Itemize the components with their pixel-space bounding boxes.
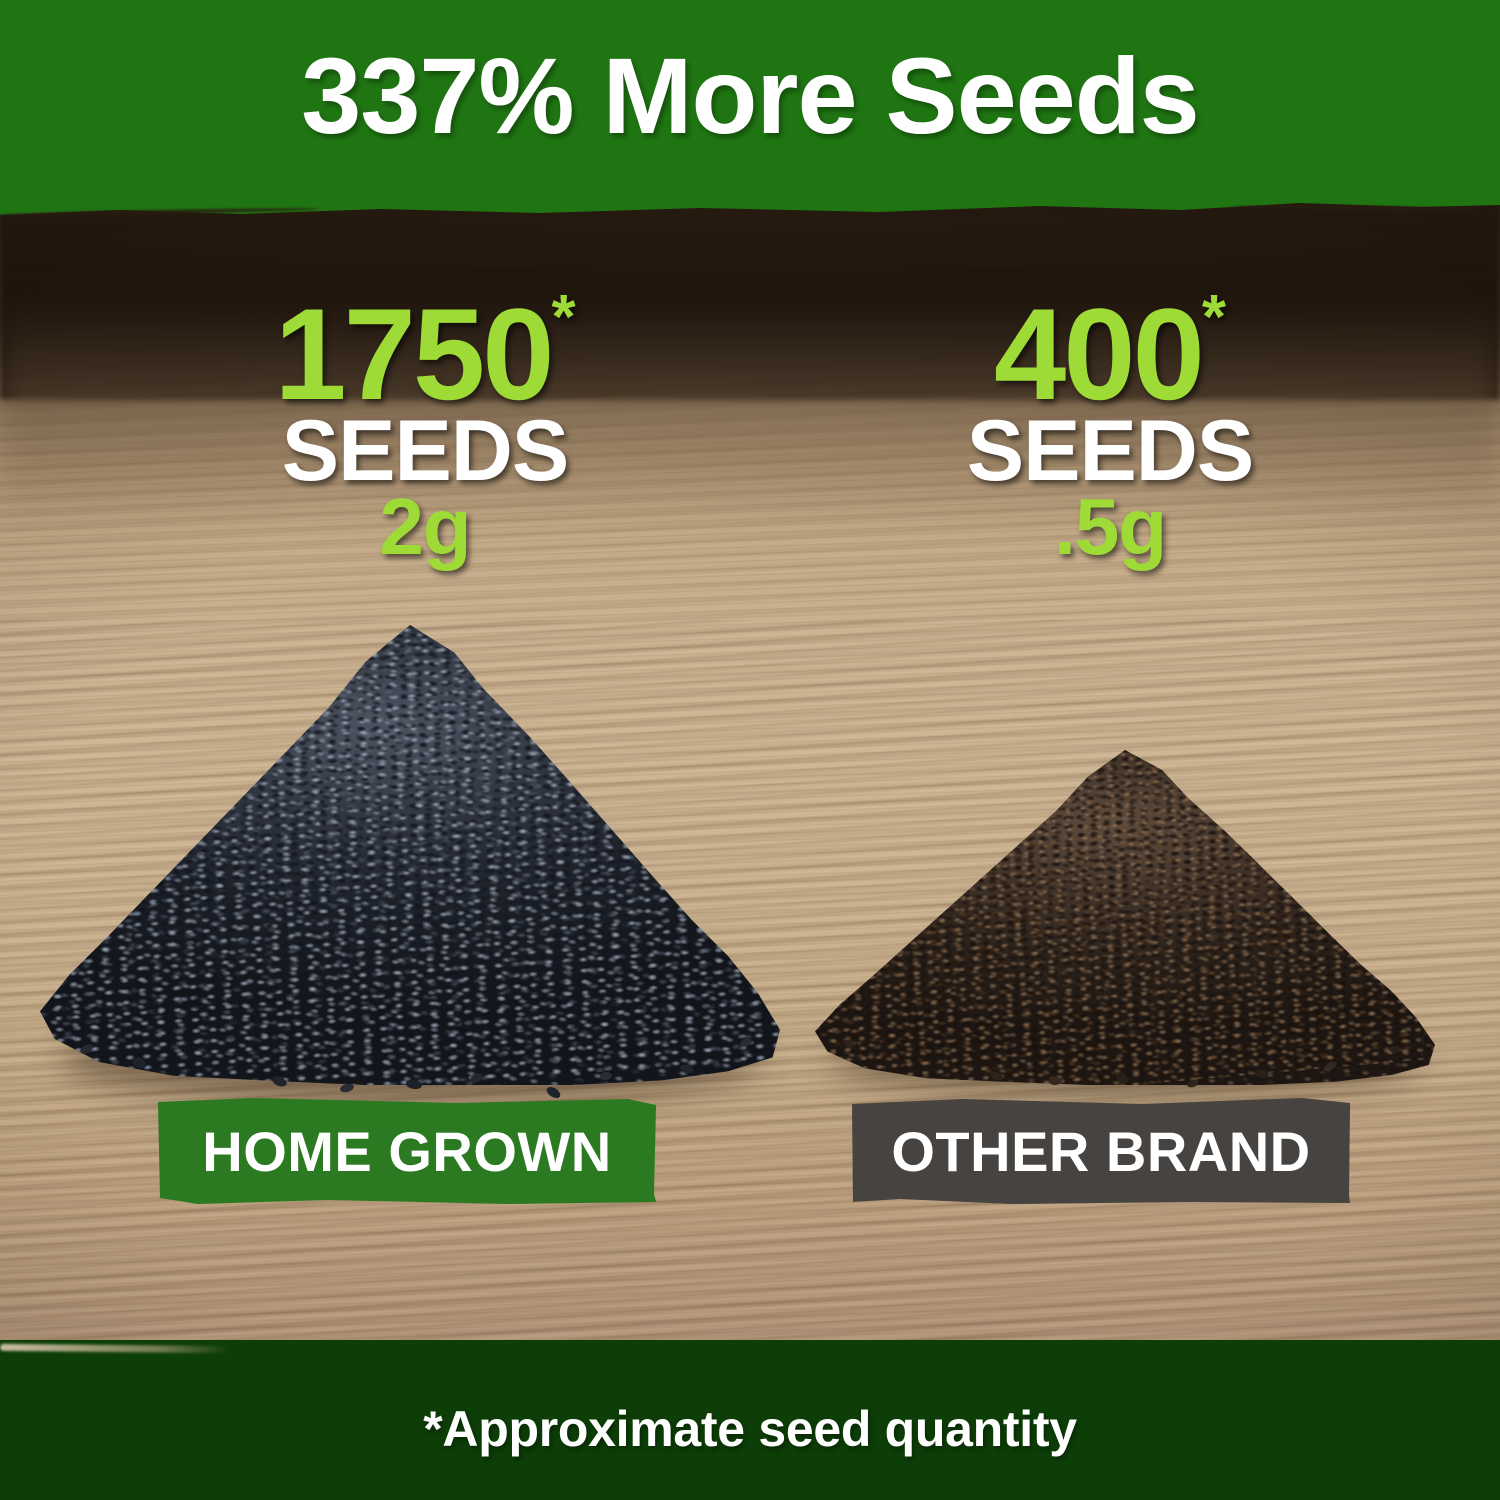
seed-weight-other: .5g (850, 488, 1370, 566)
badge-home-grown: HOME GROWN (158, 1098, 656, 1204)
seed-count-value-home: 1750 (274, 281, 551, 427)
badge-other-brand-label: OTHER BRAND (891, 1119, 1310, 1184)
seed-pile-body (40, 625, 780, 1085)
asterisk-marker-home: * (552, 283, 576, 352)
infographic-canvas: 337% More Seeds 1750* SEEDS 2g 400* SEED… (0, 0, 1500, 1500)
seed-pile-other-brand (815, 750, 1435, 1085)
badge-other-brand: OTHER BRAND (852, 1098, 1350, 1204)
seed-weight-home: 2g (165, 488, 685, 566)
asterisk-marker-other: * (1202, 283, 1226, 352)
stat-column-home-grown: 1750* SEEDS 2g (165, 292, 685, 567)
seed-count-other: 400* (994, 292, 1226, 417)
seed-pile-body (815, 750, 1435, 1085)
seed-pile-shape (815, 750, 1435, 1085)
seed-count-home: 1750* (274, 292, 575, 417)
seed-count-value-other: 400 (994, 281, 1202, 427)
seed-pile-home-grown (40, 625, 780, 1085)
seed-texture-layer-b (15, 582, 806, 1129)
seed-pile-shape (40, 625, 780, 1085)
seed-texture-layer-b (799, 719, 1451, 1117)
footnote-text: *Approximate seed quantity (0, 1400, 1500, 1458)
badge-home-grown-label: HOME GROWN (202, 1119, 611, 1184)
page-title: 337% More Seeds (0, 42, 1500, 150)
stat-column-other-brand: 400* SEEDS .5g (850, 292, 1370, 567)
